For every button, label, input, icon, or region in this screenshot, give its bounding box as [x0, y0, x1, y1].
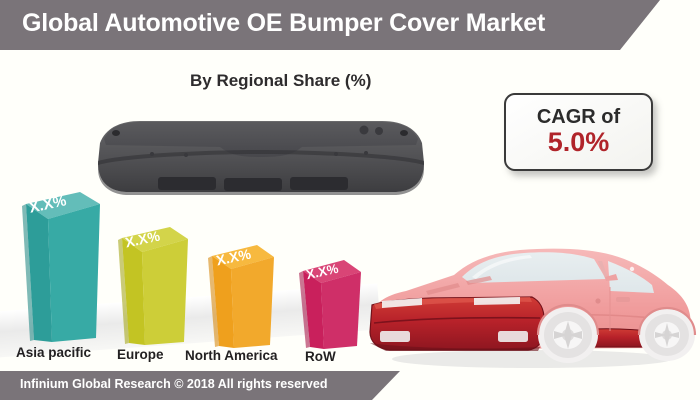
red-sports-car-photo	[362, 231, 698, 371]
infographic-canvas: Global Automotive OE Bumper Cover Market…	[0, 0, 700, 400]
page-title: Global Automotive OE Bumper Cover Market	[22, 9, 545, 38]
bar-asia-pacific	[14, 190, 110, 350]
bar-label-north-america: North America	[185, 348, 278, 363]
cagr-callout-box: CAGR of 5.0%	[504, 93, 653, 171]
bar-label-europe: Europe	[117, 347, 164, 362]
bar-europe	[112, 224, 198, 352]
footer-copyright: Infinium Global Research © 2018 All righ…	[20, 377, 327, 391]
cagr-label: CAGR of	[537, 107, 620, 128]
bar-label-row: RoW	[305, 349, 336, 364]
cagr-value: 5.0%	[548, 128, 610, 156]
bumper-cover-photo	[96, 113, 426, 196]
bar-row	[294, 257, 372, 355]
bar-north-america	[203, 242, 285, 354]
chart-subtitle: By Regional Share (%)	[190, 71, 371, 91]
bar-label-asia-pacific: Asia pacific	[16, 345, 91, 360]
